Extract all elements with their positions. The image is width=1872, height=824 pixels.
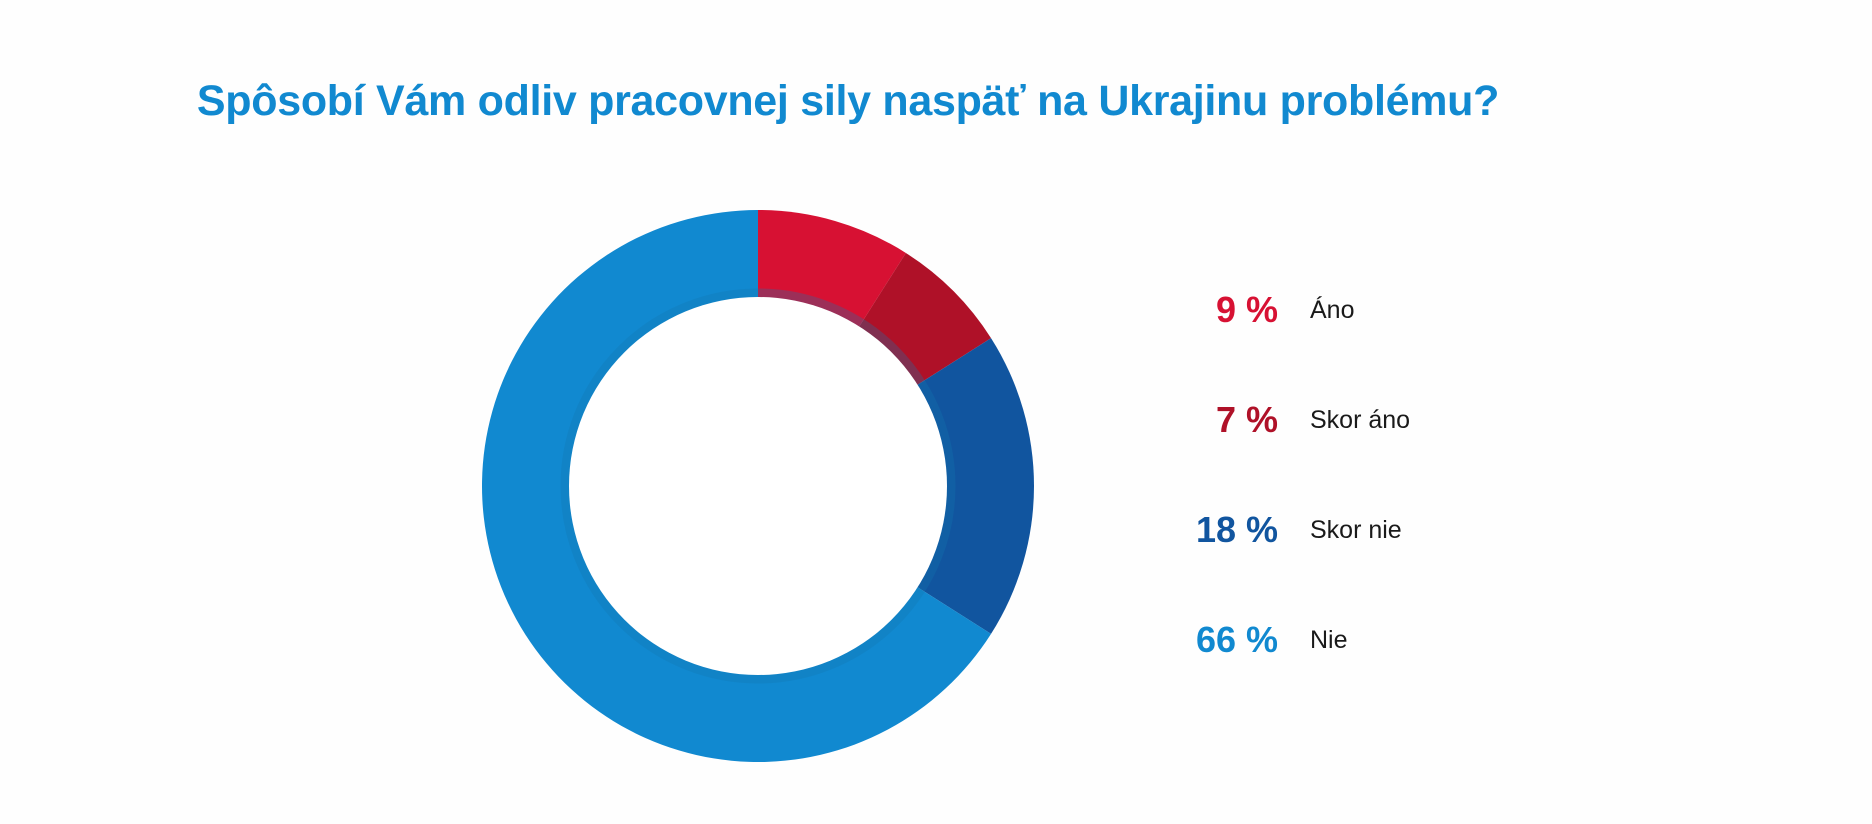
legend-percent-ano: 9 % xyxy=(1150,292,1278,328)
legend-percent-skor-nie: 18 % xyxy=(1150,512,1278,548)
legend-item-nie[interactable]: 66 % Nie xyxy=(1150,622,1570,732)
legend-item-skor-ano[interactable]: 7 % Skor áno xyxy=(1150,402,1570,512)
legend-label-nie: Nie xyxy=(1310,628,1348,653)
legend-label-ano: Áno xyxy=(1310,298,1354,323)
legend-label-skor-ano: Skor áno xyxy=(1310,408,1410,433)
donut-center-hole xyxy=(569,297,947,675)
legend-item-skor-nie[interactable]: 18 % Skor nie xyxy=(1150,512,1570,622)
legend-label-skor-nie: Skor nie xyxy=(1310,518,1402,543)
legend-percent-nie: 66 % xyxy=(1150,622,1278,658)
legend-item-ano[interactable]: 9 % Áno xyxy=(1150,292,1570,402)
donut-chart xyxy=(482,210,1034,762)
page-title: Spôsobí Vám odliv pracovnej sily naspäť … xyxy=(0,78,1696,125)
donut-chart-svg xyxy=(482,210,1034,762)
legend: 9 % Áno 7 % Skor áno 18 % Skor nie 66 % … xyxy=(1150,292,1570,732)
chart-page: Spôsobí Vám odliv pracovnej sily naspäť … xyxy=(0,0,1872,824)
legend-percent-skor-ano: 7 % xyxy=(1150,402,1278,438)
